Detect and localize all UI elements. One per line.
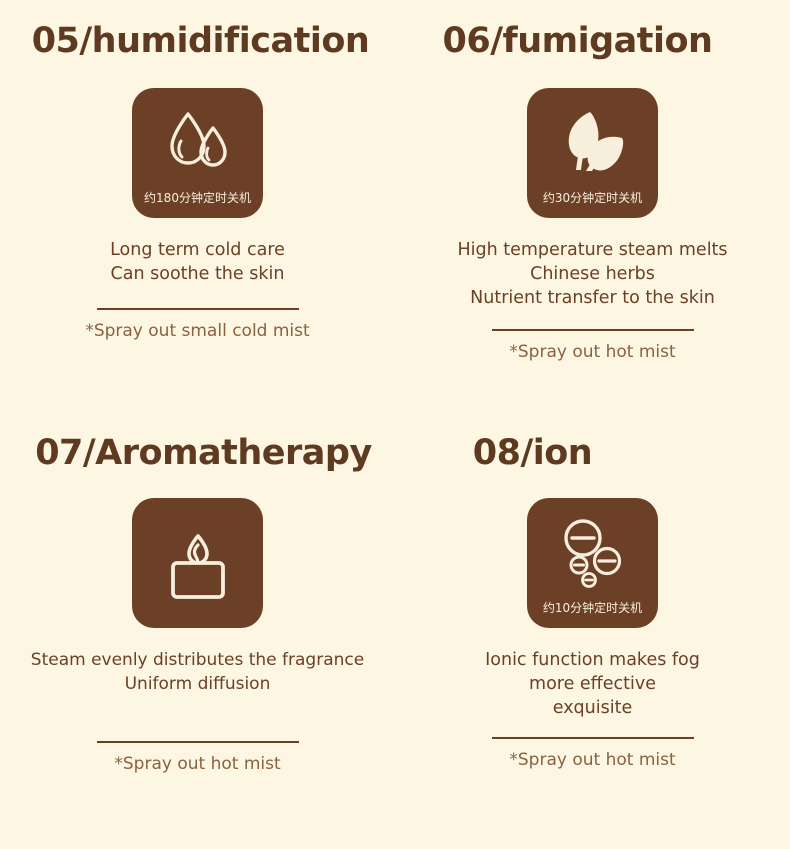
feature-grid-page: 05/humidification 约180分钟定时关机 Long term c…: [0, 0, 790, 849]
feature-icon-tile: 约10分钟定时关机: [527, 498, 658, 628]
feature-description: Long term cold care Can soothe the skin: [110, 238, 285, 286]
feature-card-ion: 08/ion 约10分钟定时关机 Ionic function makes fo…: [395, 414, 790, 828]
divider: [97, 741, 299, 743]
feature-icon-tile: 约180分钟定时关机: [132, 88, 263, 218]
divider: [492, 737, 694, 739]
feature-note: *Spray out small cold mist: [85, 321, 309, 341]
tile-timer-caption: 约180分钟定时关机: [132, 192, 263, 204]
feature-card-fumigation: 06/fumigation 约30分钟定时关机 High temperature…: [395, 0, 790, 414]
herb-leaves-icon: [556, 108, 630, 182]
feature-note: *Spray out hot mist: [114, 754, 280, 774]
feature-card-humidification: 05/humidification 约180分钟定时关机 Long term c…: [0, 0, 395, 414]
feature-heading: 07/Aromatherapy: [35, 436, 372, 471]
divider: [97, 308, 299, 310]
divider: [492, 329, 694, 331]
negative-ion-icon: [556, 518, 630, 592]
feature-grid: 05/humidification 约180分钟定时关机 Long term c…: [0, 0, 790, 828]
feature-note: *Spray out hot mist: [509, 750, 675, 770]
candle-icon: [158, 528, 238, 608]
tile-timer-caption: 约10分钟定时关机: [527, 602, 658, 614]
feature-card-aromatherapy: 07/Aromatherapy Steam evenly distributes…: [0, 414, 395, 828]
feature-description: Steam evenly distributes the fragrance U…: [31, 648, 364, 696]
feature-icon-tile: [132, 498, 263, 628]
feature-note: *Spray out hot mist: [509, 342, 675, 362]
feature-heading: 08/ion: [473, 436, 592, 471]
feature-description: High temperature steam melts Chinese her…: [457, 238, 727, 310]
tile-timer-caption: 约30分钟定时关机: [527, 192, 658, 204]
feature-icon-tile: 约30分钟定时关机: [527, 88, 658, 218]
feature-heading: 05/humidification: [32, 24, 370, 59]
feature-heading: 06/fumigation: [443, 24, 713, 59]
feature-description: Ionic function makes fog more effective …: [485, 648, 700, 720]
water-droplets-icon: [161, 108, 235, 182]
